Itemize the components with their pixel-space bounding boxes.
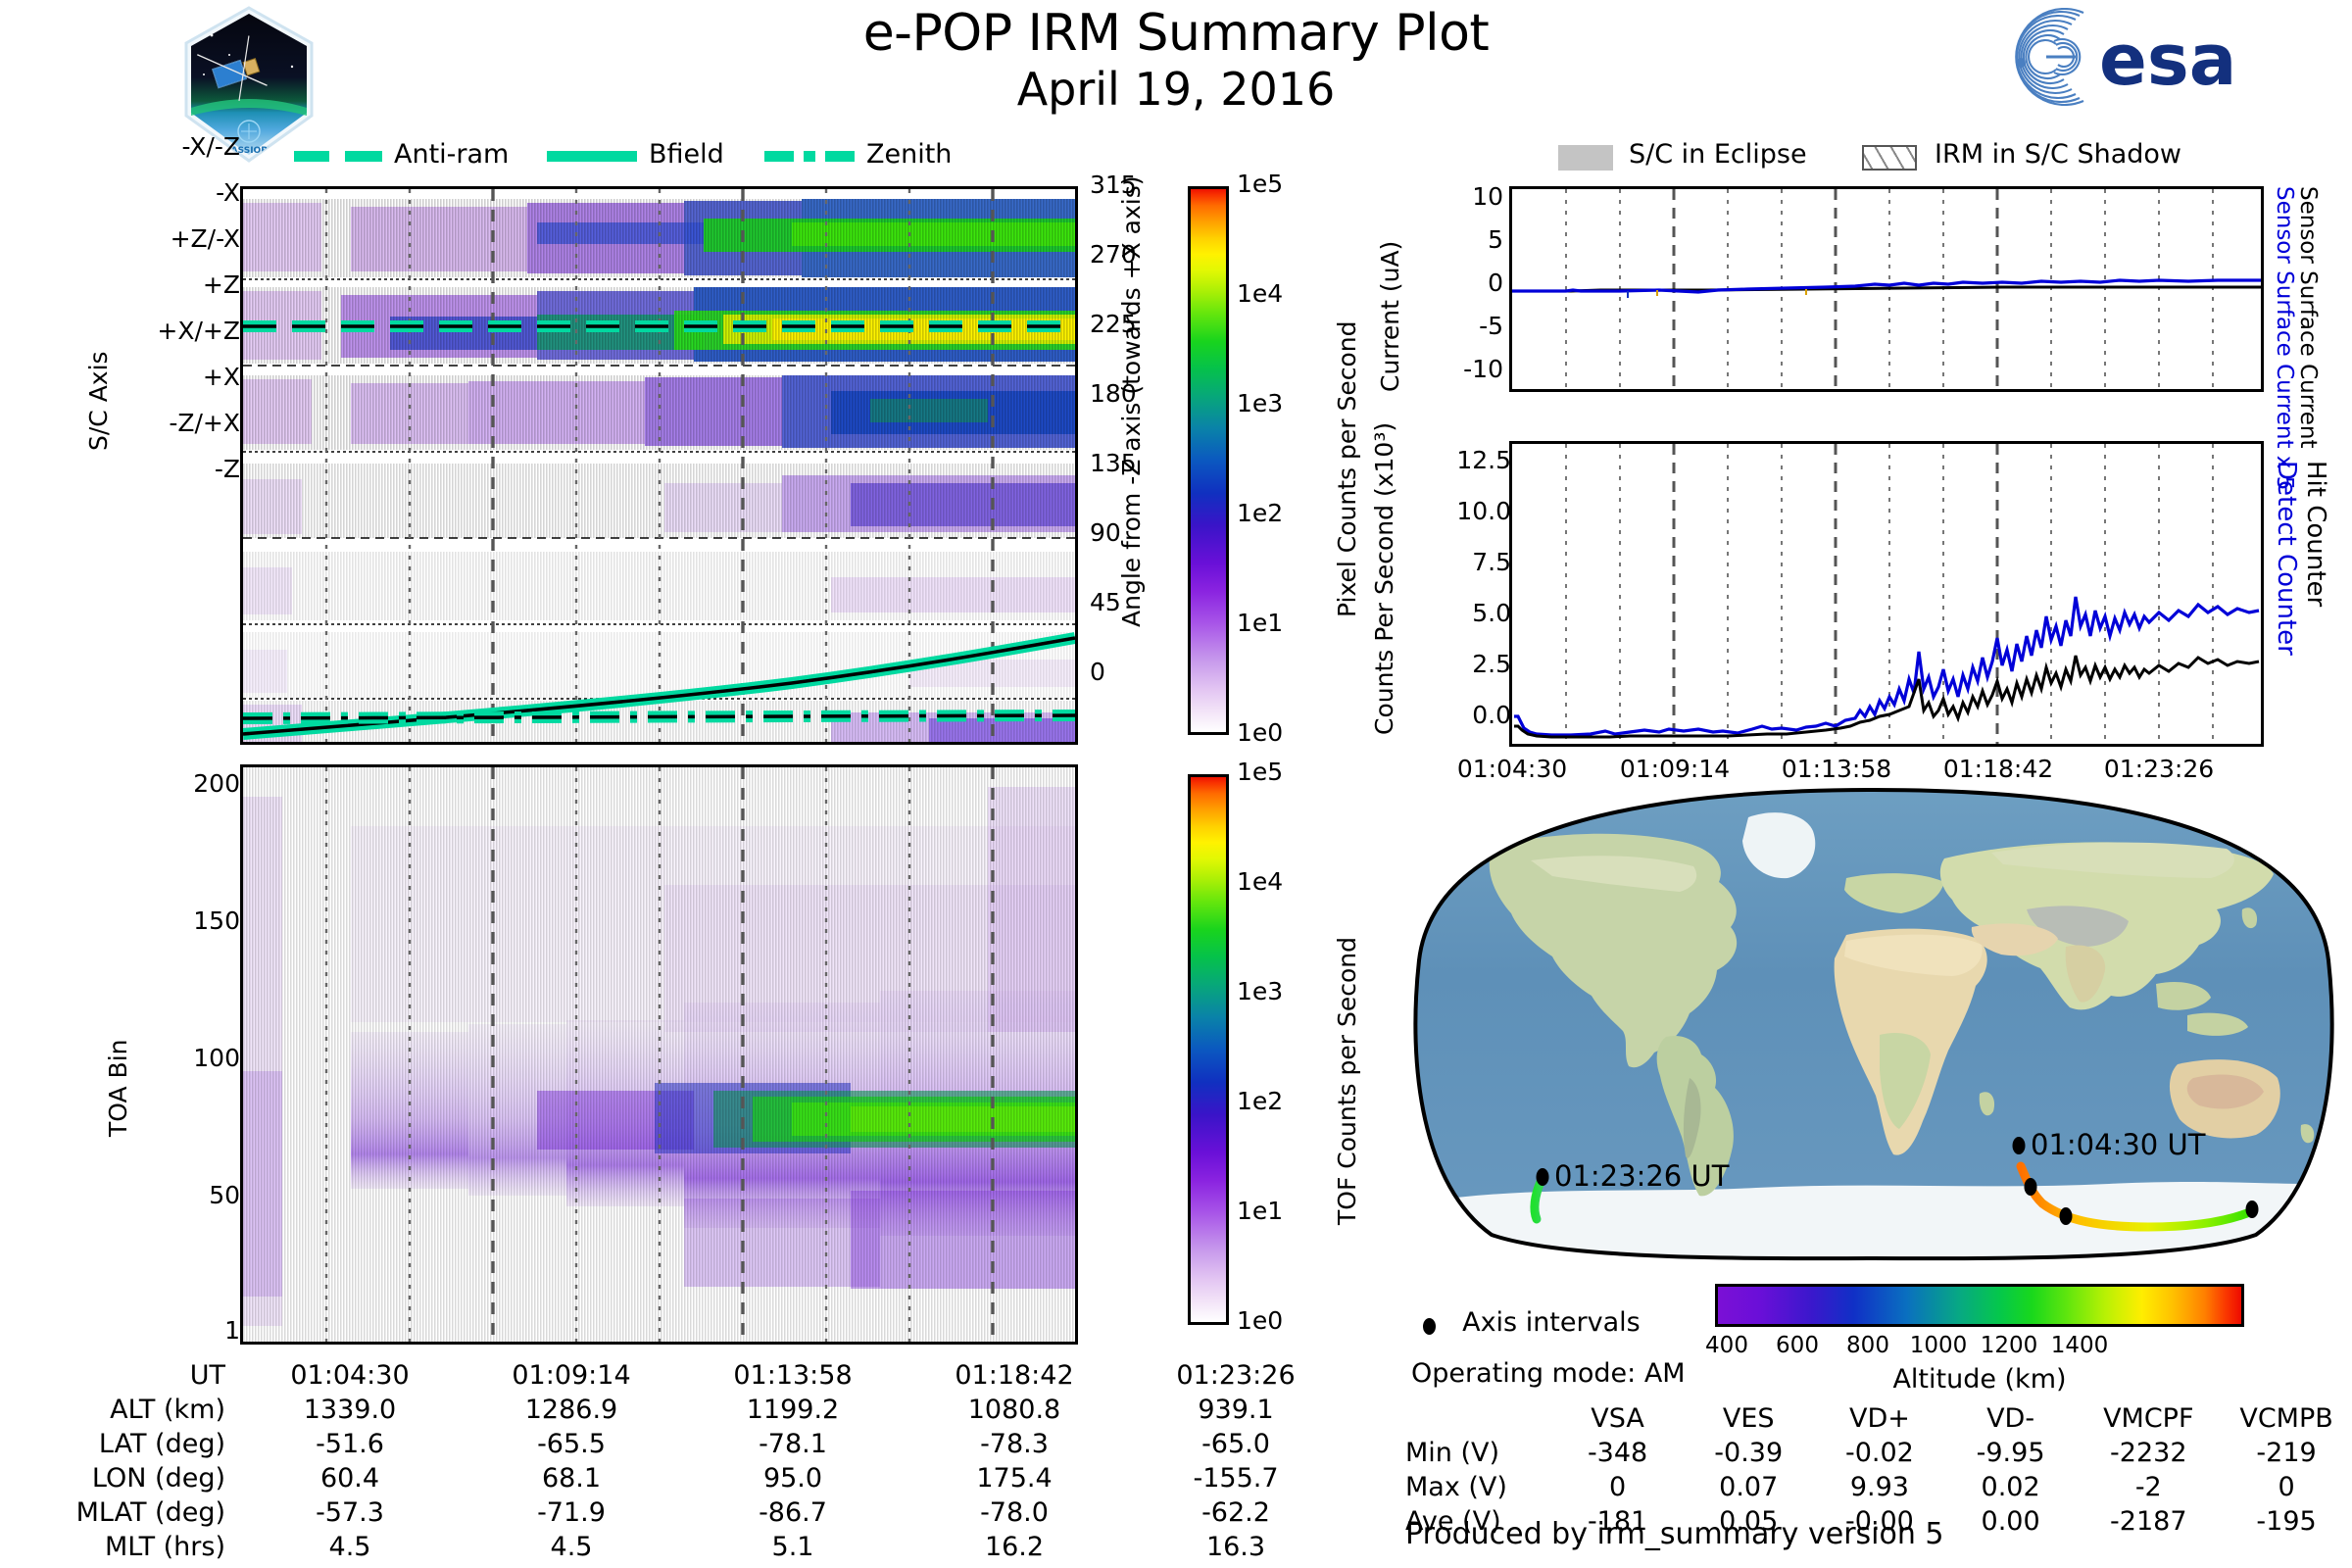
legend-anti-ram-swatch (294, 151, 382, 162)
subtitle-text: April 19, 2016 (588, 63, 1764, 116)
table-row-ut: UT 01:04:30 01:09:14 01:13:58 01:18:42 0… (20, 1358, 1347, 1393)
legend-zenith-label: Zenith (866, 139, 952, 170)
rtick-0: 0 (1090, 658, 1105, 686)
counts-right-label-black: Hit Counter (2301, 461, 2330, 745)
row-label-ut: UT (20, 1358, 239, 1393)
alt-tick-1400: 1400 (2031, 1333, 2129, 1358)
voltage-header-row: VSA VES VD+ VD- VMCPF VCMPB (1405, 1401, 2352, 1436)
altitude-colorbar-label: Altitude (km) (1774, 1364, 2185, 1395)
lat-col-2: -65.5 (461, 1427, 682, 1461)
cb-tick-1e5: 1e5 (1237, 170, 1283, 198)
lat-col-3: -78.1 (682, 1427, 904, 1461)
current-panel (1509, 186, 2264, 392)
world-map-image: 01:04:30 UT 01:23:26 UT (1403, 784, 2344, 1264)
vmax-vcmpb: 0 (2221, 1470, 2352, 1504)
ephemeris-table: UT 01:04:30 01:09:14 01:13:58 01:18:42 0… (20, 1358, 1347, 1565)
ytick-minus-x-minus-z: -X/-Z (182, 132, 240, 161)
counts-right-label-blue: Detect Counter (2272, 461, 2301, 745)
cnt-xtick-1: 01:04:30 (1419, 755, 1605, 783)
row-label-alt: ALT (km) (20, 1393, 239, 1427)
legend-bfield-swatch (547, 151, 637, 162)
vmax-vdm: 0.02 (1945, 1470, 2077, 1504)
cb-tick-1e4: 1e4 (1237, 279, 1283, 308)
vcol-head-vcmpb: VCMPB (2221, 1401, 2352, 1436)
mlat-col-4: -78.0 (904, 1495, 1125, 1530)
counts-ylabel-text: Counts Per Second (x10³) (1370, 422, 1398, 735)
tof-cb-tick-1e4: 1e4 (1237, 867, 1283, 896)
cnt-xtick-4: 01:18:42 (1905, 755, 2091, 783)
legend-eclipse-shadow: S/C in Eclipse IRM in S/C Shadow (1558, 139, 2342, 178)
lon-col-2: 68.1 (461, 1461, 682, 1495)
title-text: e-POP IRM Summary Plot (588, 4, 1764, 63)
legend-orientation: Anti-ram Bfield Zenith (284, 139, 1029, 178)
toa-ytick-200: 200 (193, 769, 240, 798)
table-row-alt: ALT (km) 1339.0 1286.9 1199.2 1080.8 939… (20, 1393, 1347, 1427)
vmin-ves: -0.39 (1683, 1436, 1814, 1470)
vave-vcmpb: -195 (2221, 1504, 2352, 1539)
esa-wordmark: esa (2099, 19, 2236, 101)
lat-col-1: -51.6 (239, 1427, 461, 1461)
legend-anti-ram-label: Anti-ram (394, 139, 509, 170)
lon-col-1: 60.4 (239, 1461, 461, 1495)
cur-ytick-5: 5 (1488, 225, 1503, 254)
ytick-minus-z-plus-x: -Z/+X (169, 409, 240, 437)
vrow-label-min: Min (V) (1405, 1436, 1552, 1470)
vmax-vmcpf: -2 (2076, 1470, 2221, 1504)
vcol-head-ves: VES (1683, 1401, 1814, 1436)
voltage-row-max: Max (V) 0 0.07 9.93 0.02 -2 0 (1405, 1470, 2352, 1504)
counts-panel-ylabel: Counts Per Second (x10³) (1370, 451, 1398, 735)
vmax-vsa: 0 (1552, 1470, 1684, 1504)
toa-spectrogram-image (243, 767, 1075, 1342)
vmin-vdm: -9.95 (1945, 1436, 2077, 1470)
cnt-ytick-25: 2.5 (1472, 650, 1511, 678)
esa-logo: esa (1982, 8, 2305, 106)
toa-spectrogram-panel (240, 764, 1078, 1345)
map-start-label: 01:04:30 UT (2031, 1128, 2206, 1161)
mlt-col-5: 16.3 (1125, 1530, 1347, 1564)
ut-col-1: 01:04:30 (239, 1358, 461, 1393)
eclipse-swatch-icon (1558, 145, 1613, 171)
cur-ytick-0: 0 (1488, 269, 1503, 297)
cnt-ytick-50: 5.0 (1472, 599, 1511, 627)
vmin-vmcpf: -2232 (2076, 1436, 2221, 1470)
alt-col-5: 939.1 (1125, 1393, 1347, 1427)
legend-zenith-swatch (764, 151, 855, 162)
pixel-colorbar (1188, 186, 1229, 735)
pixel-colorbar-label: Pixel Counts per Second (1333, 225, 1361, 617)
toa-colorbar-label: TOF Counts per Second (1333, 813, 1361, 1225)
vmax-vdp: 9.93 (1814, 1470, 1945, 1504)
ut-col-5: 01:23:26 (1125, 1358, 1347, 1393)
page-title: e-POP IRM Summary Plot April 19, 2016 (588, 4, 1764, 116)
current-right-label-blue: Sensor Surface Current x 5 (2272, 186, 2297, 392)
cur-ytick-m5: -5 (1479, 312, 1503, 340)
voltage-row-min: Min (V) -348 -0.39 -0.02 -9.95 -2232 -21… (1405, 1436, 2352, 1470)
toa-ytick-50: 50 (209, 1181, 240, 1209)
cnt-ytick-125: 12.5 (1456, 446, 1511, 474)
tof-cb-tick-1e2: 1e2 (1237, 1087, 1283, 1115)
table-row-mlat: MLAT (deg) -57.3 -71.9 -86.7 -78.0 -62.2 (20, 1495, 1347, 1530)
cb-tick-1e2: 1e2 (1237, 499, 1283, 527)
lat-col-5: -65.0 (1125, 1427, 1347, 1461)
mlt-col-3: 5.1 (682, 1530, 904, 1564)
current-right-label-black: Sensor Surface Current (2295, 186, 2321, 392)
cnt-ytick-00: 0.0 (1472, 701, 1511, 729)
toa-ytick-150: 150 (193, 906, 240, 935)
row-label-mlt: MLT (hrs) (20, 1530, 239, 1564)
legend-eclipse-label: S/C in Eclipse (1629, 139, 1807, 170)
cnt-ytick-100: 10.0 (1456, 497, 1511, 525)
overlay-zenith (243, 715, 1075, 718)
tof-cb-tick-1e1: 1e1 (1237, 1197, 1283, 1225)
table-row-lat: LAT (deg) -51.6 -65.5 -78.1 -78.3 -65.0 (20, 1427, 1347, 1461)
alt-col-1: 1339.0 (239, 1393, 461, 1427)
orbit-map: 01:04:30 UT 01:23:26 UT (1403, 784, 2344, 1264)
tof-cb-tick-1e5: 1e5 (1237, 758, 1283, 786)
cur-ytick-10: 10 (1472, 182, 1503, 211)
lon-col-4: 175.4 (904, 1461, 1125, 1495)
row-label-lon: LON (deg) (20, 1461, 239, 1495)
cnt-ytick-75: 7.5 (1472, 548, 1511, 576)
vcol-head-vdp: VD+ (1814, 1401, 1945, 1436)
table-row-lon: LON (deg) 60.4 68.1 95.0 175.4 -155.7 (20, 1461, 1347, 1495)
mlt-col-4: 16.2 (904, 1530, 1125, 1564)
mlat-col-3: -86.7 (682, 1495, 904, 1530)
toa-panel-ylabel: TOA Bin (104, 990, 132, 1137)
pixel-spectrogram-image (243, 189, 1075, 742)
ut-col-4: 01:18:42 (904, 1358, 1125, 1393)
ytick-plus-z: +Z (203, 270, 240, 299)
ytick-minus-z: -Z (215, 455, 240, 483)
mlt-col-2: 4.5 (461, 1530, 682, 1564)
vcol-head-vdm: VD- (1945, 1401, 2077, 1436)
row-label-mlat: MLAT (deg) (20, 1495, 239, 1530)
cb-tick-1e0: 1e0 (1237, 718, 1283, 747)
vave-vdm: 0.00 (1945, 1504, 2077, 1539)
counts-panel (1509, 441, 2264, 747)
row-label-lat: LAT (deg) (20, 1427, 239, 1461)
pixel-panel-ylabel: S/C Axis (84, 294, 113, 451)
pixel-spectrogram-panel (240, 186, 1078, 745)
alt-col-2: 1286.9 (461, 1393, 682, 1427)
axis-interval-dot-icon (1423, 1318, 1436, 1335)
ut-col-3: 01:13:58 (682, 1358, 904, 1393)
operating-mode-label: Operating mode: AM (1411, 1358, 1686, 1389)
legend-shadow-label: IRM in S/C Shadow (1935, 139, 2181, 170)
altitude-colorbar (1715, 1284, 2244, 1327)
vcol-head-vsa: VSA (1552, 1401, 1684, 1436)
pixel-panel-right-ylabel: Angle from -Z axis (towards +X axis) (1117, 206, 1146, 627)
ytick-plus-x: +X (203, 363, 240, 391)
cur-ytick-m10: -10 (1463, 355, 1503, 383)
ytick-plus-z-minus-x: +Z/-X (171, 224, 240, 253)
toa-colorbar (1188, 774, 1229, 1325)
vmin-vcmpb: -219 (2221, 1436, 2352, 1470)
alt-col-4: 1080.8 (904, 1393, 1125, 1427)
vcol-head-vmcpf: VMCPF (2076, 1401, 2221, 1436)
alt-col-3: 1199.2 (682, 1393, 904, 1427)
ut-col-2: 01:09:14 (461, 1358, 682, 1393)
lat-col-4: -78.3 (904, 1427, 1125, 1461)
current-panel-ylabel: Current (uA) (1376, 196, 1404, 392)
cnt-xtick-3: 01:13:58 (1743, 755, 1930, 783)
cb-tick-1e1: 1e1 (1237, 609, 1283, 637)
tof-cb-tick-1e0: 1e0 (1237, 1306, 1283, 1335)
counts-plot (1512, 444, 2261, 744)
vmax-ves: 0.07 (1683, 1470, 1814, 1504)
ytick-minus-x: -X (216, 178, 240, 207)
vmin-vsa: -348 (1552, 1436, 1684, 1470)
mlat-col-5: -62.2 (1125, 1495, 1347, 1530)
altitude-colorbar-ticks: 400 600 800 1000 1200 1400 (1715, 1333, 2244, 1366)
vave-vmcpf: -2187 (2076, 1504, 2221, 1539)
map-end-label: 01:23:26 UT (1554, 1159, 1730, 1193)
cb-tick-1e3: 1e3 (1237, 389, 1283, 417)
voltage-corner-cell (1405, 1401, 1552, 1436)
lon-col-3: 95.0 (682, 1461, 904, 1495)
toa-ytick-100: 100 (193, 1044, 240, 1072)
axis-intervals-label: Axis intervals (1462, 1307, 1641, 1338)
vmin-vdp: -0.02 (1814, 1436, 1945, 1470)
tof-cb-tick-1e3: 1e3 (1237, 977, 1283, 1005)
mlat-col-1: -57.3 (239, 1495, 461, 1530)
mlt-col-1: 4.5 (239, 1530, 461, 1564)
table-row-mlt: MLT (hrs) 4.5 4.5 5.1 16.2 16.3 (20, 1530, 1347, 1564)
cnt-xtick-2: 01:09:14 (1582, 755, 1768, 783)
ytick-plus-x-plus-z: +X/+Z (157, 317, 240, 345)
cnt-xtick-5: 01:23:26 (2066, 755, 2252, 783)
current-plot (1512, 189, 2261, 389)
vrow-label-max: Max (V) (1405, 1470, 1552, 1504)
mlat-col-2: -71.9 (461, 1495, 682, 1530)
legend-bfield-label: Bfield (649, 139, 724, 170)
toa-ytick-1: 1 (224, 1316, 240, 1345)
produced-by-footer: Produced by irm_summary version 5 (1405, 1517, 1943, 1551)
shadow-swatch-icon (1862, 145, 1917, 171)
lon-col-5: -155.7 (1125, 1461, 1347, 1495)
